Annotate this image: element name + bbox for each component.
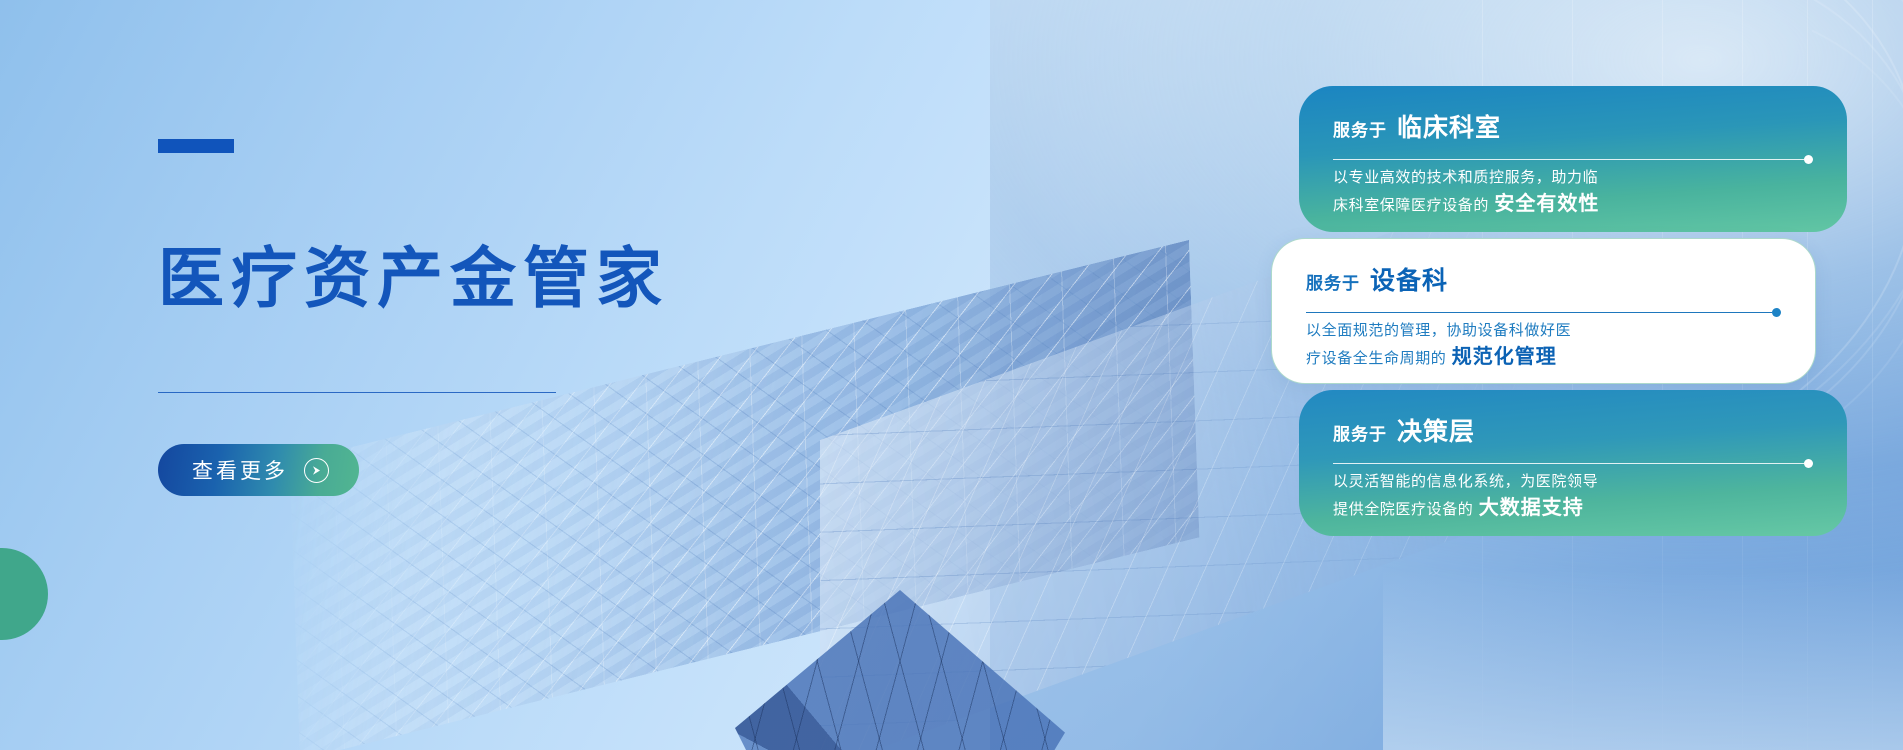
card-heading: 服务于 设备科 — [1306, 261, 1781, 297]
card-department: 设备科 — [1370, 261, 1448, 297]
rule-end-dot — [1804, 155, 1813, 164]
accent-bar — [158, 139, 234, 153]
circled-arrow-right-icon — [304, 458, 329, 483]
rule-end-dot — [1772, 308, 1781, 317]
card-description: 以专业高效的技术和质控服务，助力临 床科室保障医疗设备的 安全有效性 — [1333, 164, 1813, 218]
card-desc-line-2: 床科室保障医疗设备的 安全有效性 — [1333, 190, 1813, 218]
card-desc-line-1: 以灵活智能的信息化系统，为医院领导 — [1333, 468, 1813, 494]
card-department: 临床科室 — [1397, 108, 1501, 144]
card-prefix: 服务于 — [1333, 420, 1387, 445]
card-description: 以灵活智能的信息化系统，为医院领导 提供全院医疗设备的 大数据支持 — [1333, 468, 1813, 522]
card-desc-plain: 提供全院医疗设备的 — [1333, 500, 1473, 518]
card-desc-emphasis: 大数据支持 — [1479, 495, 1584, 519]
rule-line — [1333, 159, 1804, 160]
card-desc-plain: 床科室保障医疗设备的 — [1333, 196, 1489, 214]
card-desc-emphasis: 安全有效性 — [1494, 191, 1599, 215]
rule-line — [1333, 463, 1804, 464]
service-card-leadership[interactable]: 服务于 决策层 以灵活智能的信息化系统，为医院领导 提供全院医疗设备的 大数据支… — [1299, 390, 1847, 536]
rule-line — [1306, 312, 1772, 313]
card-department: 决策层 — [1397, 412, 1475, 448]
divider — [158, 392, 556, 393]
card-prefix: 服务于 — [1333, 116, 1387, 141]
hero-text-column: 医疗资产金管家 查看更多 — [158, 0, 778, 750]
service-card-equipment[interactable]: 服务于 设备科 以全面规范的管理，协助设备科做好医 疗设备全生命周期的 规范化管… — [1271, 238, 1816, 384]
card-desc-line-2: 提供全院医疗设备的 大数据支持 — [1333, 494, 1813, 522]
card-heading: 服务于 决策层 — [1333, 412, 1813, 448]
card-desc-emphasis: 规范化管理 — [1452, 344, 1557, 368]
service-card-clinical[interactable]: 服务于 临床科室 以专业高效的技术和质控服务，助力临 床科室保障医疗设备的 安全… — [1299, 86, 1847, 232]
service-cards-group: 服务于 临床科室 以专业高效的技术和质控服务，助力临 床科室保障医疗设备的 安全… — [1103, 0, 1903, 750]
card-desc-line-1: 以全面规范的管理，协助设备科做好医 — [1306, 317, 1781, 343]
card-desc-line-2: 疗设备全生命周期的 规范化管理 — [1306, 343, 1781, 371]
rule-end-dot — [1804, 459, 1813, 468]
page-title: 医疗资产金管家 — [158, 241, 669, 317]
card-desc-plain: 疗设备全生命周期的 — [1306, 349, 1446, 367]
card-heading: 服务于 临床科室 — [1333, 108, 1813, 144]
card-desc-line-1: 以专业高效的技术和质控服务，助力临 — [1333, 164, 1813, 190]
view-more-label: 查看更多 — [192, 455, 288, 485]
card-prefix: 服务于 — [1306, 269, 1360, 294]
card-description: 以全面规范的管理，协助设备科做好医 疗设备全生命周期的 规范化管理 — [1306, 317, 1781, 371]
view-more-button[interactable]: 查看更多 — [158, 444, 359, 496]
hero-banner: 医疗资产金管家 查看更多 服务于 临床科室 以专业高效的技术和质控服务， — [0, 0, 1903, 750]
